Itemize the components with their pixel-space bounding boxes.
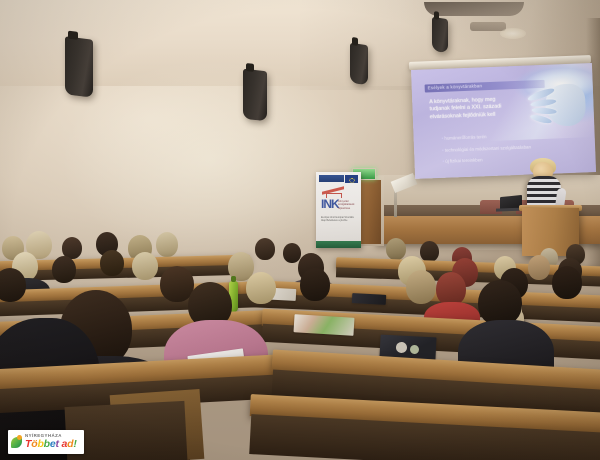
banner-program-logo: INK — [321, 198, 339, 210]
banner-body-text: Európai Unió Európai Szociális Alap Befe… — [321, 216, 357, 222]
loudspeaker-icon — [65, 36, 93, 97]
roll-up-banner: INK Könyvtári szolgáltatások fejlesztése… — [316, 172, 361, 248]
banner-house-icon — [322, 186, 344, 197]
eu-flag-icon — [345, 175, 358, 183]
audience-head — [100, 250, 124, 276]
notebook — [352, 293, 386, 305]
audience-head — [283, 243, 301, 263]
audience-head — [436, 272, 466, 306]
audience-head — [255, 238, 275, 260]
audience-head — [0, 268, 26, 302]
audience-head — [386, 238, 406, 260]
leaf-swirl-logo-mark — [10, 435, 23, 450]
audience-head — [132, 252, 158, 280]
audience-head — [246, 272, 276, 304]
lecture-hall-photo: INK Könyvtári szolgáltatások fejlesztése… — [0, 0, 600, 460]
audience-head — [300, 268, 330, 301]
slide-lead-text: A könyvtáraknak, hogy meg tudjanak felel… — [429, 96, 514, 121]
audience-head — [528, 255, 550, 280]
loudspeaker-icon — [350, 43, 368, 86]
watermark-text: NYÍREGYHÁZA Többet ad! — [25, 434, 77, 450]
open-brochure — [294, 314, 355, 336]
loudspeaker-icon — [243, 69, 267, 122]
banner-subtitle: Könyvtári szolgáltatások fejlesztése — [338, 200, 359, 210]
audience-head — [406, 270, 436, 304]
projection-screen: Esélyek a könyvtárakban A könyvtáraknak,… — [411, 63, 596, 179]
audience-head — [420, 241, 439, 262]
watermark-slogan: Többet ad! — [25, 439, 77, 450]
stage-chair — [480, 200, 502, 214]
slide-bullet-list: humánerőforrás terén technológiai és mód… — [441, 127, 584, 167]
audience-head — [52, 256, 76, 283]
audience-head — [156, 232, 178, 257]
sun-dot-icon — [17, 435, 22, 440]
banner-footer-band — [316, 241, 361, 248]
loudspeaker-icon — [432, 17, 448, 54]
audience-head — [552, 266, 582, 299]
flipchart-stand — [394, 183, 397, 217]
watermark-logo: NYÍREGYHÁZA Többet ad! — [8, 430, 84, 454]
banner-header-block — [319, 175, 344, 182]
